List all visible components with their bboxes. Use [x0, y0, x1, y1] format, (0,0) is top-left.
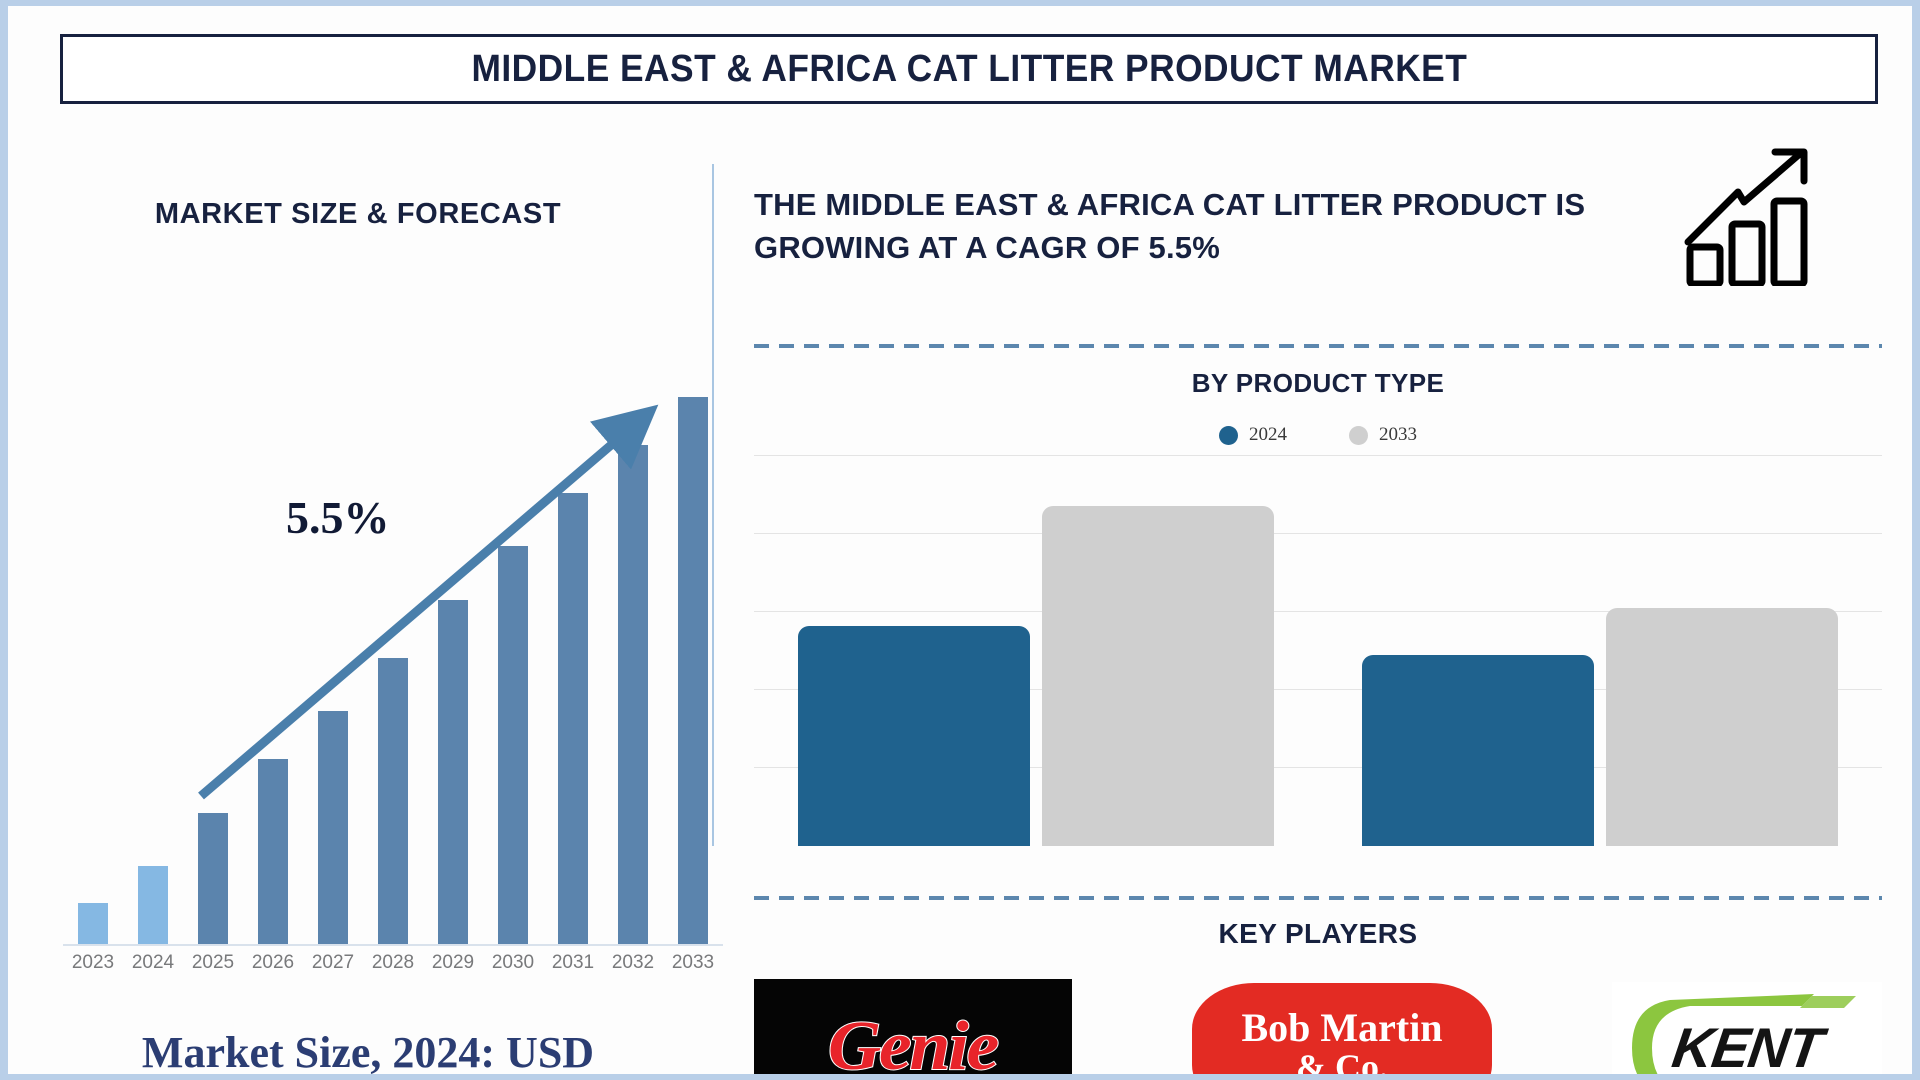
by-product-type-chart: CLUMPINGCONVENTIONAL — [754, 456, 1882, 846]
forecast-year-label: 2030 — [484, 952, 542, 974]
product-bar-clumping-2024 — [798, 626, 1030, 846]
infographic-page: MIDDLE EAST & AFRICA CAT LITTER PRODUCT … — [8, 6, 1912, 1074]
chart-gridline — [754, 533, 1882, 534]
forecast-axis-line — [63, 944, 723, 946]
legend-item-2024[interactable]: 2024 — [1219, 424, 1287, 446]
legend-label: 2024 — [1249, 424, 1287, 446]
forecast-bar — [198, 813, 228, 944]
legend-label: 2033 — [1379, 424, 1417, 446]
forecast-bars-plot — [63, 366, 723, 944]
panel-divider — [712, 164, 714, 846]
forecast-year-label: 2027 — [304, 952, 362, 974]
legend-color-dot — [1219, 426, 1238, 445]
product-bar-conventional-2024 — [1362, 655, 1594, 846]
chart-gridline — [754, 455, 1882, 456]
forecast-bar — [558, 493, 588, 944]
chart-legend: 20242033 — [754, 424, 1882, 446]
logo-genie-text: Genie — [828, 1007, 997, 1074]
product-bar-clumping-2033 — [1042, 506, 1274, 846]
market-size-line-1: Market Size, 2024: USD — [28, 1026, 708, 1074]
forecast-bar — [318, 711, 348, 944]
bar-chart-growth-icon — [1678, 146, 1818, 286]
logo-kent-worldwide: KENT WORLDWIDE — [1612, 982, 1882, 1074]
left-panel: MARKET SIZE & FORECAST 5.5% 202320242025… — [28, 136, 710, 1066]
forecast-bar — [618, 445, 648, 944]
dashed-separator-top — [754, 344, 1882, 348]
dashed-separator-bottom — [754, 896, 1882, 900]
forecast-year-label: 2025 — [184, 952, 242, 974]
legend-item-2033[interactable]: 2033 — [1349, 424, 1417, 446]
forecast-year-label: 2032 — [604, 952, 662, 974]
logo-bob-martin: Bob Martin & Co. — [1192, 983, 1492, 1074]
logo-bob-martin-line1: Bob Martin — [1241, 1008, 1442, 1049]
forecast-year-label: 2028 — [364, 952, 422, 974]
forecast-year-label: 2024 — [124, 952, 182, 974]
forecast-bar — [78, 903, 108, 944]
forecast-year-label: 2031 — [544, 952, 602, 974]
forecast-bar — [378, 658, 408, 944]
page-title: MIDDLE EAST & AFRICA CAT LITTER PRODUCT … — [471, 48, 1467, 91]
market-size-forecast-chart: 2023202420252026202720282029203020312032… — [43, 366, 723, 986]
product-bar-conventional-2033 — [1606, 608, 1838, 846]
page-title-banner: MIDDLE EAST & AFRICA CAT LITTER PRODUCT … — [60, 34, 1878, 104]
forecast-bar — [498, 546, 528, 944]
right-panel: THE MIDDLE EAST & AFRICA CAT LITTER PROD… — [738, 136, 1888, 1066]
legend-color-dot — [1349, 426, 1368, 445]
forecast-bar — [438, 600, 468, 944]
forecast-bar — [258, 759, 288, 944]
forecast-year-label: 2033 — [664, 952, 722, 974]
forecast-year-label: 2026 — [244, 952, 302, 974]
logo-bob-martin-line2: & Co. — [1296, 1049, 1388, 1075]
logo-genie: Genie — [754, 979, 1072, 1074]
forecast-year-label: 2023 — [64, 952, 122, 974]
forecast-bar — [678, 397, 708, 944]
market-size-value: Market Size, 2024: USD ~750 Million — [28, 1026, 708, 1074]
forecast-year-label: 2029 — [424, 952, 482, 974]
by-product-type-title: BY PRODUCT TYPE — [754, 368, 1882, 399]
market-size-forecast-title: MARKET SIZE & FORECAST — [28, 198, 688, 231]
forecast-bar — [138, 866, 168, 944]
forecast-year-labels: 2023202420252026202720282029203020312032… — [63, 952, 723, 988]
logo-kent-main: KENT — [1668, 1015, 1826, 1075]
key-players-logos: Genie Bob Martin & Co. KENT WORLDWIDE — [754, 972, 1882, 1074]
key-players-title: KEY PLAYERS — [754, 918, 1882, 950]
cagr-headline: THE MIDDLE EAST & AFRICA CAT LITTER PROD… — [754, 184, 1654, 270]
